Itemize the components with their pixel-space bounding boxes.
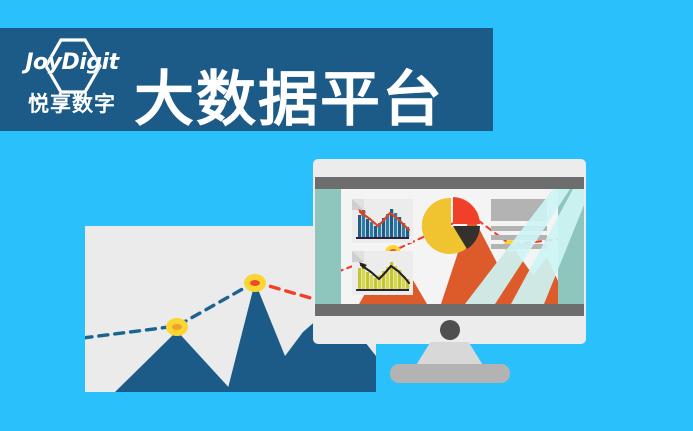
data-point-marker [166,318,188,336]
monitor-base [390,364,510,383]
monitor-illustration [313,159,586,344]
monitor-bottom-bar [315,304,584,316]
header-banner: JoyDigit 悦享数字 大数据平台 [0,28,493,131]
illustration-canvas: JoyDigit 悦享数字 大数据平台 [0,0,693,431]
monitor-screen [315,189,584,304]
logo-wordmark: JoyDigit [18,50,126,75]
mountain-shape-secondary [115,331,233,392]
brand-logo: JoyDigit 悦享数字 [18,36,126,124]
monitor-stand [416,342,484,366]
screen-glare [315,189,584,304]
page-title: 大数据平台 [134,68,444,132]
monitor-power-button[interactable] [440,320,460,340]
logo-subtitle: 悦享数字 [18,88,126,118]
monitor-top-bar [315,177,584,189]
data-point-marker [244,274,266,292]
